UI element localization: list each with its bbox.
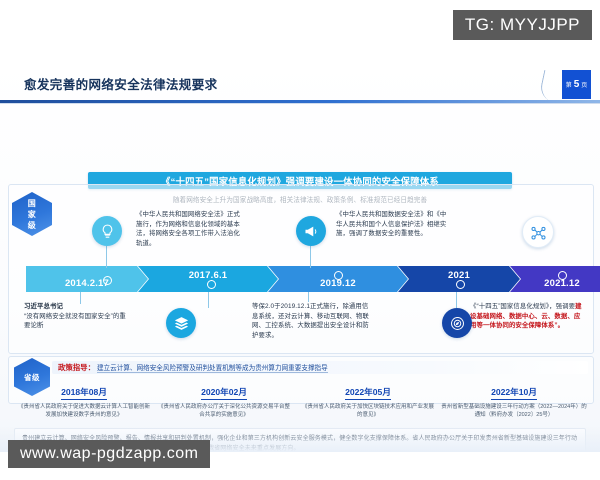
timeline-date-2017: 2017.6.1 xyxy=(189,270,228,281)
policy-column-2[interactable]: 2020年02月 《贵州省人民政府办公厅关于深化公共资源交易平台整合共享的实施意… xyxy=(156,382,292,419)
timeline-date-2021: 2021 xyxy=(448,270,470,281)
milestone-card-2019: 等保2.0于2019.12.1正式施行，除通用信息系统，还对云计算、移动互联网、… xyxy=(252,302,374,340)
timeline-track: 2014.2.17 2017.6.1 2019.12 2021 2021.12 xyxy=(26,266,582,292)
milestone-card-2014-text: “没有网络安全就没有国家安全”的重要论断 xyxy=(24,313,126,330)
page-number-badge: 第 5 页 xyxy=(562,70,591,99)
policy-column-3[interactable]: 2022年05月 《贵州省人民政府关于加快区块链技术应用和产业发展的意见》 xyxy=(300,382,436,419)
timeline-node-2014 xyxy=(103,276,112,285)
policy-column-1[interactable]: 2018年08月 《贵州省人民政府关于促进大数据云计算人工智能创新发展加快建设数… xyxy=(16,382,152,419)
policy-desc-1: 《贵州省人民政府关于促进大数据云计算人工智能创新发展加快建设数字贵州的意见》 xyxy=(16,403,152,419)
policy-date-4: 2022年10月 xyxy=(491,386,537,400)
milestone-card-2014: 习近平总书记 “没有网络安全就没有国家安全”的重要论断 xyxy=(24,302,128,331)
level-tag-national-label: 国家级 xyxy=(24,198,40,231)
policy-date-1: 2018年08月 xyxy=(61,386,107,400)
stem-compass xyxy=(456,292,457,308)
stem-2019-card xyxy=(308,292,309,302)
policy-desc-4: 贵州省新型基础设施建设三年行动方案（2022—2024年）的通知（黔府办发〔20… xyxy=(440,403,588,419)
watermark-top: TG: MYYJJPP xyxy=(453,10,592,40)
milestone-card-2017: 《中华人民共和国网络安全法》正式施行，作为网络和信息化领域的基本法，将网络安全各… xyxy=(136,210,244,248)
milestone-card-2017-text: 《中华人民共和国网络安全法》正式施行，作为网络和信息化领域的基本法，将网络安全各… xyxy=(136,211,240,247)
level-tag-provincial-label: 省级 xyxy=(14,372,50,383)
page-badge-suffix: 页 xyxy=(581,80,587,89)
slide-canvas: 愈发完善的网络安全法律法规要求 第 5 页 《“十四五”国家信息化规划》强调要建… xyxy=(0,58,600,452)
policy-date-3: 2022年05月 xyxy=(345,386,391,400)
network-nodes-icon xyxy=(522,216,554,248)
timeline-node-2021-12 xyxy=(558,271,567,280)
policy-date-2: 2020年02月 xyxy=(201,386,247,400)
policy-desc-3: 《贵州省人民政府关于加快区块链技术应用和产业发展的意见》 xyxy=(300,403,436,419)
page-badge-number: 5 xyxy=(574,79,580,90)
stem-2014-card xyxy=(80,292,81,304)
milestone-card-2021-12: 《“十四五”国家信息化规划》，强调要建设基础网络、数据中心、云、数据、应用等一体… xyxy=(470,302,584,331)
timeline-chevron-2014[interactable]: 2014.2.17 xyxy=(26,266,148,292)
page-title: 愈发完善的网络安全法律法规要求 xyxy=(24,74,218,93)
watermark-bottom: www.wap-pgdzapp.com xyxy=(8,440,210,468)
page-badge-prefix: 第 xyxy=(566,80,572,89)
milestone-card-2014-title: 习近平总书记 xyxy=(24,303,63,310)
megaphone-icon xyxy=(296,216,326,246)
lightbulb-icon xyxy=(92,216,122,246)
timeline-node-2021 xyxy=(456,280,465,289)
policy-guide-bar: 政策指导： 建立云计算、网络安全风险预警及研判处置机制等成为贵州算力网重要支撑指… xyxy=(52,361,588,374)
timeline-chevron-2021-12[interactable]: 2021.12 xyxy=(510,266,600,292)
header-divider-thin xyxy=(0,103,600,104)
layers-icon xyxy=(166,308,196,338)
stem-megaphone xyxy=(310,246,311,268)
timeline-node-2017 xyxy=(207,280,216,289)
milestone-card-2021-12-lead: 《“十四五”国家信息化规划》，强调要 xyxy=(470,303,575,310)
stem-lightbulb xyxy=(106,246,107,268)
slide-header: 愈发完善的网络安全法律法规要求 第 5 页 xyxy=(0,72,600,102)
stem-layers xyxy=(208,292,209,308)
policy-guide-value: 建立云计算、网络安全风险预警及研判处置机制等成为贵州算力网重要支撑指导 xyxy=(97,362,328,374)
policy-column-4[interactable]: 2022年10月 贵州省新型基础设施建设三年行动方案（2022—2024年）的通… xyxy=(440,382,588,419)
milestone-card-2019-text: 等保2.0于2019.12.1正式施行，除通用信息系统，还对云计算、移动互联网、… xyxy=(252,303,369,339)
policy-guide-key: 政策指导： xyxy=(58,362,95,373)
timeline-node-2019 xyxy=(334,271,343,280)
policy-desc-2: 《贵州省人民政府办公厅关于深化公共资源交易平台整合共享的实施意见》 xyxy=(156,403,292,419)
milestone-card-2021-text: 《中华人民共和国数据安全法》和《中华人民共和国个人信息保护法》相继实施，强调了数… xyxy=(336,211,446,237)
milestone-card-2021: 《中华人民共和国数据安全法》和《中华人民共和国个人信息保护法》相继实施，强调了数… xyxy=(336,210,448,239)
compass-icon xyxy=(442,308,472,338)
